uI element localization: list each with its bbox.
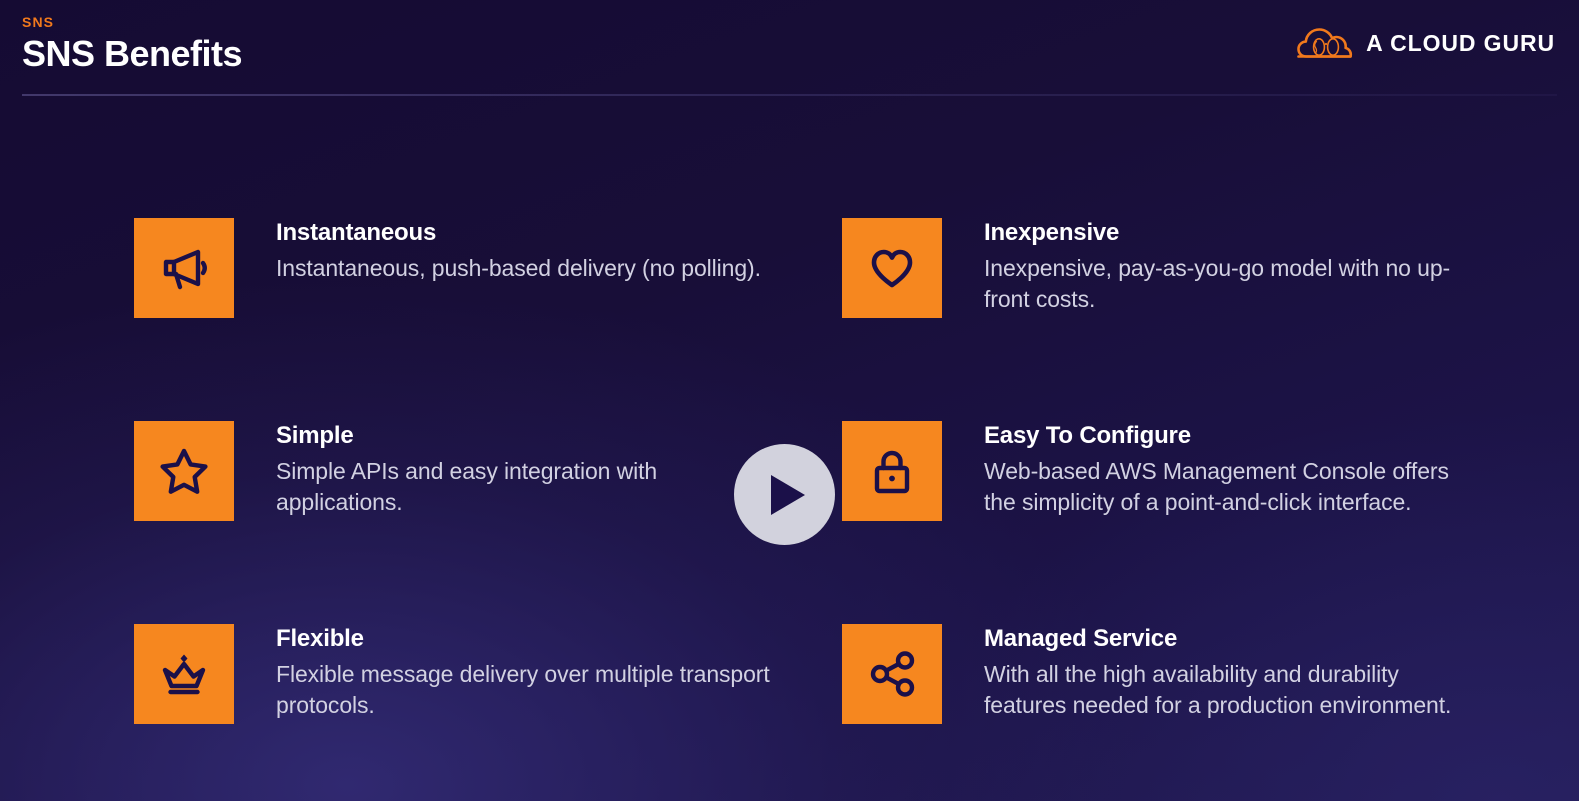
benefit-item: Easy To Configure Web-based AWS Manageme… xyxy=(842,421,1534,624)
benefit-text-block: Instantaneous Instantaneous, push-based … xyxy=(276,218,761,284)
play-triangle-icon xyxy=(762,473,808,517)
benefit-icon-tile xyxy=(842,624,942,724)
share-nodes-icon xyxy=(864,646,920,702)
benefit-title: Flexible xyxy=(276,624,776,654)
crown-icon xyxy=(156,646,212,702)
benefit-description: Flexible message delivery over multiple … xyxy=(276,659,776,720)
benefit-text-block: Simple Simple APIs and easy integration … xyxy=(276,421,776,517)
benefit-item: Managed Service With all the high availa… xyxy=(842,624,1534,801)
benefit-description: Inexpensive, pay-as-you-go model with no… xyxy=(984,253,1484,314)
star-icon xyxy=(156,443,212,499)
benefit-text-block: Inexpensive Inexpensive, pay-as-you-go m… xyxy=(984,218,1484,314)
benefit-icon-tile xyxy=(134,421,234,521)
benefit-description: Web-based AWS Management Console offers … xyxy=(984,456,1484,517)
slide-header: SNS SNS Benefits A CLOUD GURU xyxy=(0,0,1579,96)
benefit-title: Instantaneous xyxy=(276,218,761,248)
benefit-item: Instantaneous Instantaneous, push-based … xyxy=(134,218,842,421)
benefit-description: With all the high availability and durab… xyxy=(984,659,1484,720)
benefit-title: Inexpensive xyxy=(984,218,1484,248)
benefit-icon-tile xyxy=(134,624,234,724)
header-divider xyxy=(22,94,1557,96)
heart-icon xyxy=(864,240,920,296)
brand-name: A CLOUD GURU xyxy=(1366,30,1555,57)
page-title: SNS Benefits xyxy=(22,32,242,76)
benefit-item: Simple Simple APIs and easy integration … xyxy=(134,421,842,624)
benefit-text-block: Easy To Configure Web-based AWS Manageme… xyxy=(984,421,1484,517)
benefit-icon-tile xyxy=(134,218,234,318)
benefit-title: Simple xyxy=(276,421,776,451)
benefit-text-block: Managed Service With all the high availa… xyxy=(984,624,1484,720)
slide-canvas: SNS SNS Benefits A CLOUD GURU xyxy=(0,0,1579,801)
benefit-icon-tile xyxy=(842,421,942,521)
benefit-text-block: Flexible Flexible message delivery over … xyxy=(276,624,776,720)
benefit-title: Easy To Configure xyxy=(984,421,1484,451)
benefit-item: Inexpensive Inexpensive, pay-as-you-go m… xyxy=(842,218,1534,421)
benefits-grid: Instantaneous Instantaneous, push-based … xyxy=(134,218,1534,801)
megaphone-icon xyxy=(156,240,212,296)
header-eyebrow: SNS xyxy=(22,14,242,30)
benefit-icon-tile xyxy=(842,218,942,318)
benefit-description: Simple APIs and easy integration with ap… xyxy=(276,456,776,517)
benefit-item: Flexible Flexible message delivery over … xyxy=(134,624,842,801)
benefit-description: Instantaneous, push-based delivery (no p… xyxy=(276,253,761,284)
header-title-block: SNS SNS Benefits xyxy=(22,14,242,76)
benefit-title: Managed Service xyxy=(984,624,1484,654)
play-button[interactable] xyxy=(734,444,835,545)
cloud-guru-logo-icon xyxy=(1297,25,1353,61)
lock-icon xyxy=(864,443,920,499)
brand-logo: A CLOUD GURU xyxy=(1297,25,1555,61)
